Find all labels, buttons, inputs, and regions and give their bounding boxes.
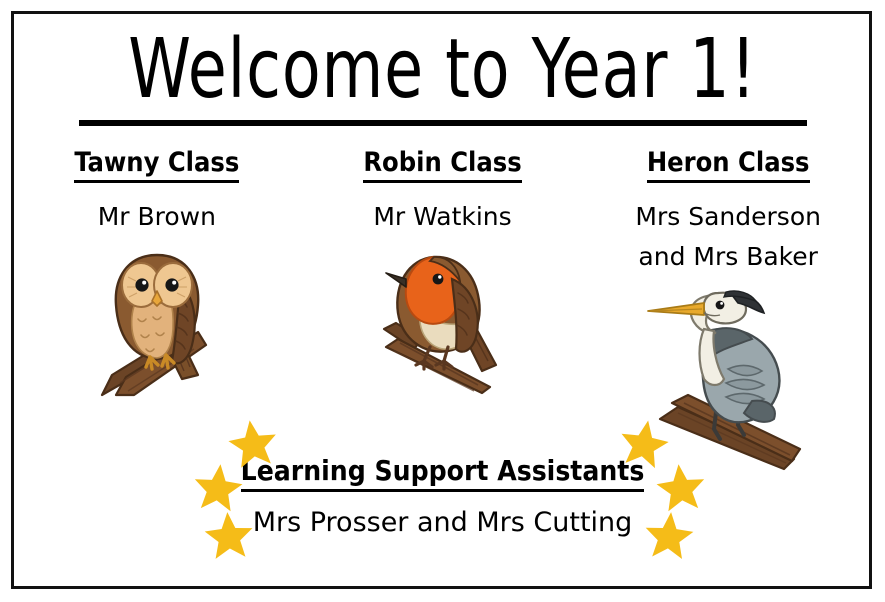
support-staff-block: Learning Support Assistants Mrs Prosser … <box>0 455 885 540</box>
teacher-name-heron-2: and Mrs Baker <box>585 237 871 277</box>
star-icon-bottom-right <box>641 508 697 564</box>
poster-canvas: Welcome to Year 1! Tawny Class Mr Brown <box>0 0 885 602</box>
class-column-tawny: Tawny Class Mr Brown <box>14 148 300 413</box>
class-heading-robin: Robin Class <box>363 148 521 183</box>
bird-illustration-slot-tawny <box>14 243 300 413</box>
teacher-name-robin: Mr Watkins <box>300 197 586 237</box>
class-column-robin: Robin Class Mr Watkins <box>300 148 586 413</box>
page-title: Welcome to Year 1! <box>62 26 823 114</box>
title-underline <box>79 120 807 126</box>
star-icon-mid-left <box>189 459 246 516</box>
teacher-name-tawny: Mr Brown <box>14 197 300 237</box>
poster-title-block: Welcome to Year 1! <box>0 26 885 126</box>
class-heading-tawny: Tawny Class <box>74 148 239 183</box>
star-icon-mid-right <box>652 459 709 516</box>
class-column-heron: Heron Class Mrs Sanderson and Mrs Baker <box>585 148 871 453</box>
bird-illustration-slot-robin <box>300 243 586 413</box>
star-icon-bottom-left <box>201 508 257 564</box>
support-heading: Learning Support Assistants <box>241 455 645 492</box>
tawny-owl-icon <box>94 243 220 399</box>
robin-icon <box>378 243 508 395</box>
class-columns: Tawny Class Mr Brown <box>14 148 871 453</box>
support-names: Mrs Prosser and Mrs Cutting <box>0 506 885 540</box>
teacher-name-heron-1: Mrs Sanderson <box>585 197 871 237</box>
class-heading-heron: Heron Class <box>647 148 810 183</box>
